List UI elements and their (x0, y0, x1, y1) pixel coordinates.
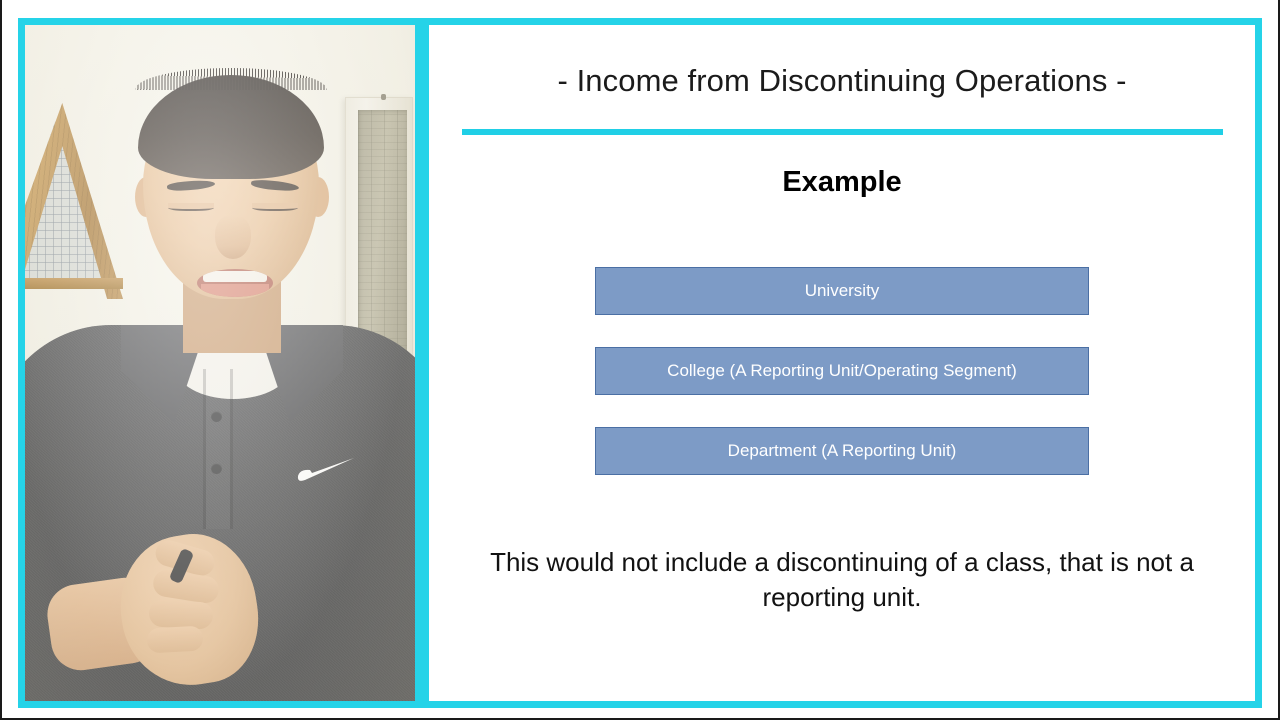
slide-title: - Income from Discontinuing Operations - (429, 63, 1255, 99)
presenter-lower-lip (201, 284, 269, 297)
hierarchy-box-university: University (595, 267, 1089, 315)
hierarchy-box-college: College (A Reporting Unit/Operating Segm… (595, 347, 1089, 395)
screen-root: 2 (0, 0, 1280, 720)
slide-note-text: This would not include a discontinuing o… (451, 545, 1233, 614)
shirt-button-upper (211, 411, 222, 422)
hierarchy-diagram: University College (A Reporting Unit/Ope… (429, 267, 1255, 507)
slide-content: - Income from Discontinuing Operations -… (429, 25, 1255, 701)
nike-swoosh-icon (297, 457, 355, 483)
title-underline-rule (462, 129, 1223, 135)
hierarchy-row: University (429, 267, 1255, 315)
presenter-finger-ring (148, 599, 213, 629)
hierarchy-row: Department (A Reporting Unit) (429, 427, 1255, 475)
hierarchy-box-department: Department (A Reporting Unit) (595, 427, 1089, 475)
presenter-mouth (197, 269, 273, 297)
shirt-button-lower (211, 463, 222, 474)
presenter-eye-right (252, 203, 298, 211)
slide-panel[interactable]: - Income from Discontinuing Operations -… (422, 18, 1262, 708)
presenter-nose (215, 215, 251, 259)
presenter-hair (138, 75, 324, 179)
presenter-figure (25, 25, 415, 701)
presenter-video-frame: 2 (25, 25, 415, 701)
example-heading: Example (429, 166, 1255, 199)
shirt-placket (203, 369, 233, 529)
hierarchy-row: College (A Reporting Unit/Operating Segm… (429, 347, 1255, 395)
presenter-video-panel[interactable]: 2 (18, 18, 422, 708)
presenter-finger-pinky (146, 626, 203, 654)
presenter-eye-left (168, 203, 214, 211)
page-edge-left (0, 0, 2, 720)
presenter-teeth (203, 271, 267, 282)
